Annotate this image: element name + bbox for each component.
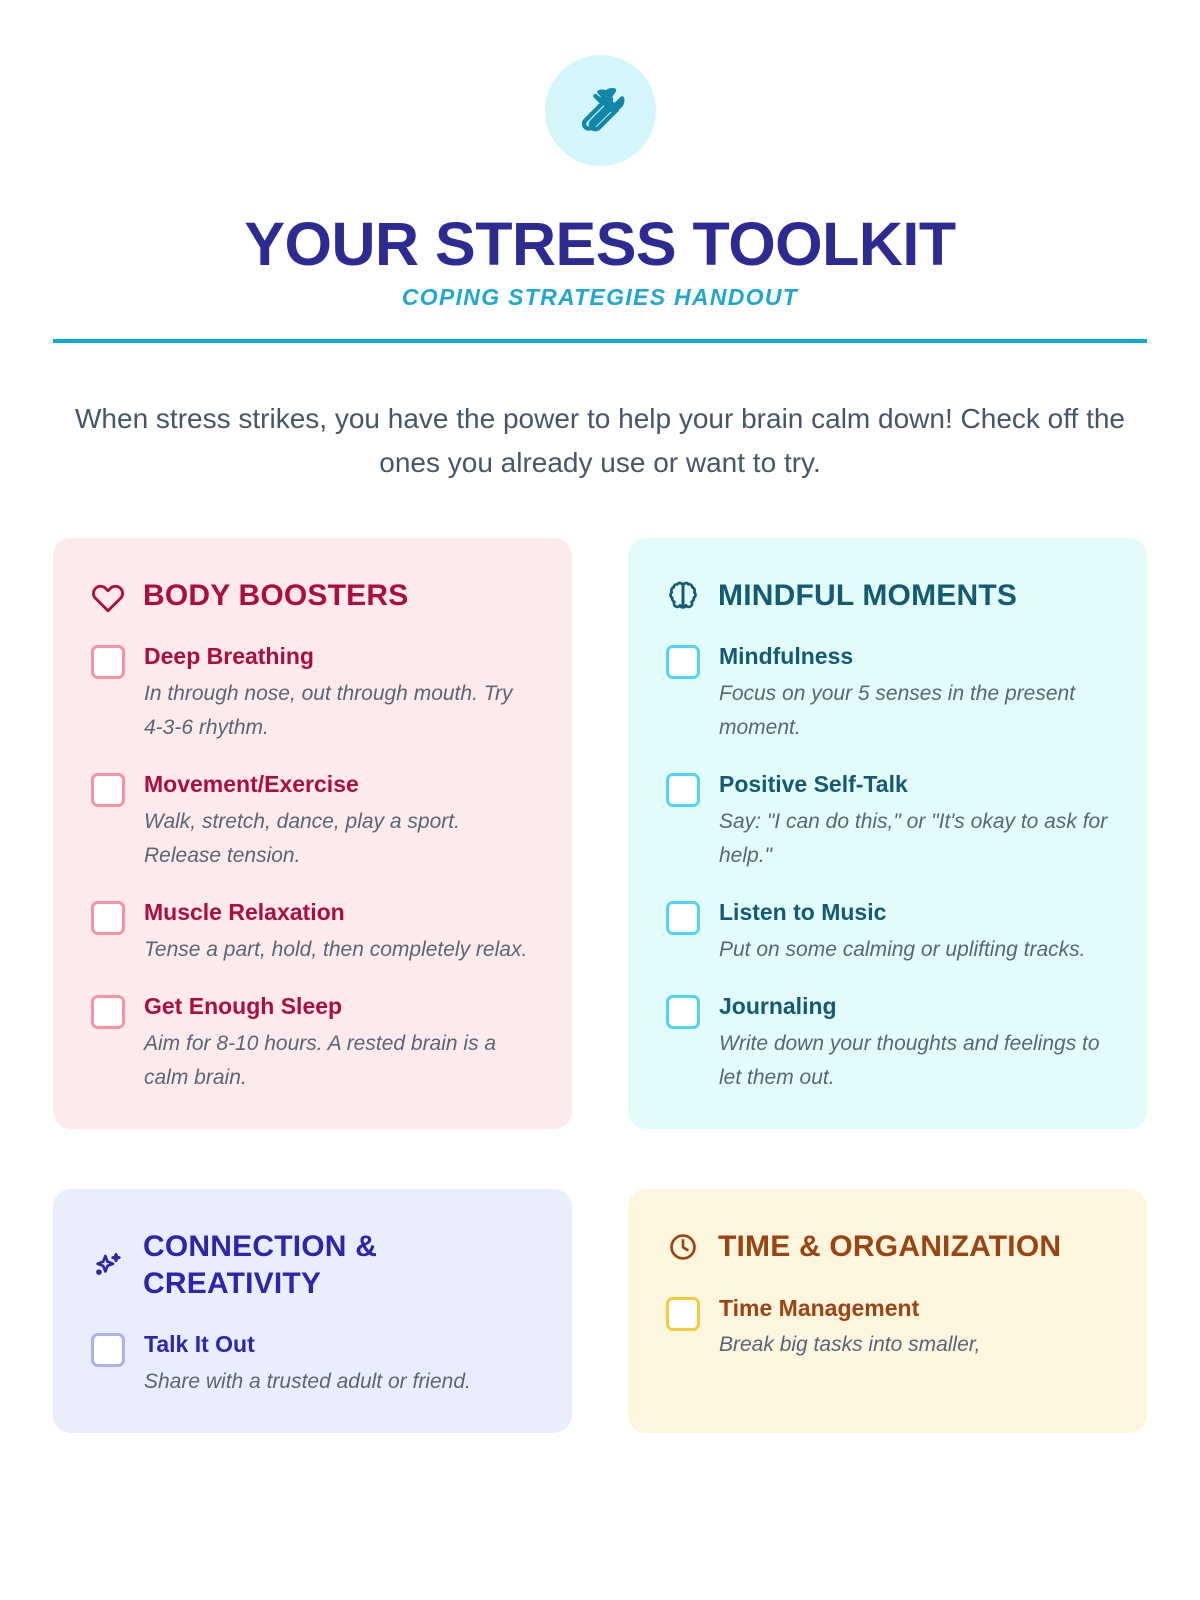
checkbox[interactable] — [666, 645, 700, 679]
sparkles-icon — [91, 1249, 125, 1283]
checkbox[interactable] — [666, 901, 700, 935]
checkbox[interactable] — [91, 995, 125, 1029]
checklist-item-label: Mindfulness — [719, 642, 1109, 672]
card-title: CONNECTION & CREATIVITY — [143, 1229, 534, 1302]
checklist-item[interactable]: Positive Self-TalkSay: "I can do this," … — [666, 770, 1109, 873]
checklist-item-description: Put on some calming or uplifting tracks. — [719, 933, 1109, 967]
checklist-item[interactable]: Time ManagementBreak big tasks into smal… — [666, 1294, 1109, 1363]
page-title: YOUR STRESS TOOLKIT — [53, 213, 1147, 275]
checklist-item-description: Share with a trusted adult or friend. — [144, 1365, 534, 1399]
checklist-item[interactable]: Talk It OutShare with a trusted adult or… — [91, 1330, 534, 1399]
checklist-item-description: Aim for 8-10 hours. A rested brain is a … — [144, 1027, 534, 1095]
clock-icon — [666, 1230, 700, 1264]
checklist-item-body: Muscle RelaxationTense a part, hold, the… — [144, 898, 534, 967]
checkbox[interactable] — [666, 773, 700, 807]
page-header: YOUR STRESS TOOLKIT COPING STRATEGIES HA… — [53, 0, 1147, 343]
card-title: TIME & ORGANIZATION — [718, 1229, 1061, 1266]
wrench-icon — [574, 85, 626, 137]
card-header: TIME & ORGANIZATION — [666, 1229, 1109, 1266]
checklist-item-description: Break big tasks into smaller, — [719, 1328, 1109, 1362]
checklist-item-body: Listen to MusicPut on some calming or up… — [719, 898, 1109, 967]
card-title: MINDFUL MOMENTS — [718, 578, 1017, 615]
checklist-item-body: Talk It OutShare with a trusted adult or… — [144, 1330, 534, 1399]
checklist-item-label: Talk It Out — [144, 1330, 534, 1360]
checklist-item-body: Time ManagementBreak big tasks into smal… — [719, 1294, 1109, 1363]
heart-icon — [91, 579, 125, 613]
checkbox[interactable] — [91, 1333, 125, 1367]
checklist-item-body: JournalingWrite down your thoughts and f… — [719, 992, 1109, 1095]
checklist-item-body: Positive Self-TalkSay: "I can do this," … — [719, 770, 1109, 873]
checkbox[interactable] — [91, 645, 125, 679]
strategy-card-grid: BODY BOOSTERSDeep BreathingIn through no… — [53, 538, 1147, 1433]
checklist-item-description: Walk, stretch, dance, play a sport. Rele… — [144, 805, 534, 873]
checklist-item-description: Write down your thoughts and feelings to… — [719, 1027, 1109, 1095]
checklist-item-label: Time Management — [719, 1294, 1109, 1324]
checklist-item-body: MindfulnessFocus on your 5 senses in the… — [719, 642, 1109, 745]
checkbox[interactable] — [91, 901, 125, 935]
header-divider — [53, 339, 1147, 343]
checklist-item[interactable]: JournalingWrite down your thoughts and f… — [666, 992, 1109, 1095]
checklist-item-description: Tense a part, hold, then completely rela… — [144, 933, 534, 967]
strategy-card-connection-creativity: CONNECTION & CREATIVITYTalk It OutShare … — [53, 1189, 572, 1433]
checklist-item[interactable]: Muscle RelaxationTense a part, hold, the… — [91, 898, 534, 967]
checklist-item-label: Positive Self-Talk — [719, 770, 1109, 800]
checklist-item-body: Movement/ExerciseWalk, stretch, dance, p… — [144, 770, 534, 873]
page-subtitle: COPING STRATEGIES HANDOUT — [53, 284, 1147, 311]
checklist-item-label: Muscle Relaxation — [144, 898, 534, 928]
checklist-item[interactable]: Get Enough SleepAim for 8-10 hours. A re… — [91, 992, 534, 1095]
card-header: BODY BOOSTERS — [91, 578, 534, 615]
checklist-item-label: Journaling — [719, 992, 1109, 1022]
checkbox[interactable] — [666, 1297, 700, 1331]
checklist-item-label: Deep Breathing — [144, 642, 534, 672]
strategy-card-body-boosters: BODY BOOSTERSDeep BreathingIn through no… — [53, 538, 572, 1129]
toolkit-logo-badge — [545, 55, 656, 166]
checklist-item-body: Get Enough SleepAim for 8-10 hours. A re… — [144, 992, 534, 1095]
checklist-item-description: Say: "I can do this," or "It's okay to a… — [719, 805, 1109, 873]
checklist-item[interactable]: MindfulnessFocus on your 5 senses in the… — [666, 642, 1109, 745]
checklist-item-label: Get Enough Sleep — [144, 992, 534, 1022]
checklist-item-description: Focus on your 5 senses in the present mo… — [719, 677, 1109, 745]
checklist-item[interactable]: Movement/ExerciseWalk, stretch, dance, p… — [91, 770, 534, 873]
card-header: MINDFUL MOMENTS — [666, 578, 1109, 615]
intro-text: When stress strikes, you have the power … — [53, 397, 1147, 485]
handout-page: YOUR STRESS TOOLKIT COPING STRATEGIES HA… — [0, 0, 1200, 1600]
card-title: BODY BOOSTERS — [143, 578, 408, 615]
checklist-item-label: Listen to Music — [719, 898, 1109, 928]
checklist-item[interactable]: Deep BreathingIn through nose, out throu… — [91, 642, 534, 745]
checklist-item-label: Movement/Exercise — [144, 770, 534, 800]
brain-icon — [666, 579, 700, 613]
checklist-item-body: Deep BreathingIn through nose, out throu… — [144, 642, 534, 745]
checkbox[interactable] — [666, 995, 700, 1029]
strategy-card-time-organization: TIME & ORGANIZATIONTime ManagementBreak … — [628, 1189, 1147, 1433]
checklist-item[interactable]: Listen to MusicPut on some calming or up… — [666, 898, 1109, 967]
strategy-card-mindful-moments: MINDFUL MOMENTSMindfulnessFocus on your … — [628, 538, 1147, 1129]
checklist-item-description: In through nose, out through mouth. Try … — [144, 677, 534, 745]
card-header: CONNECTION & CREATIVITY — [91, 1229, 534, 1302]
checkbox[interactable] — [91, 773, 125, 807]
